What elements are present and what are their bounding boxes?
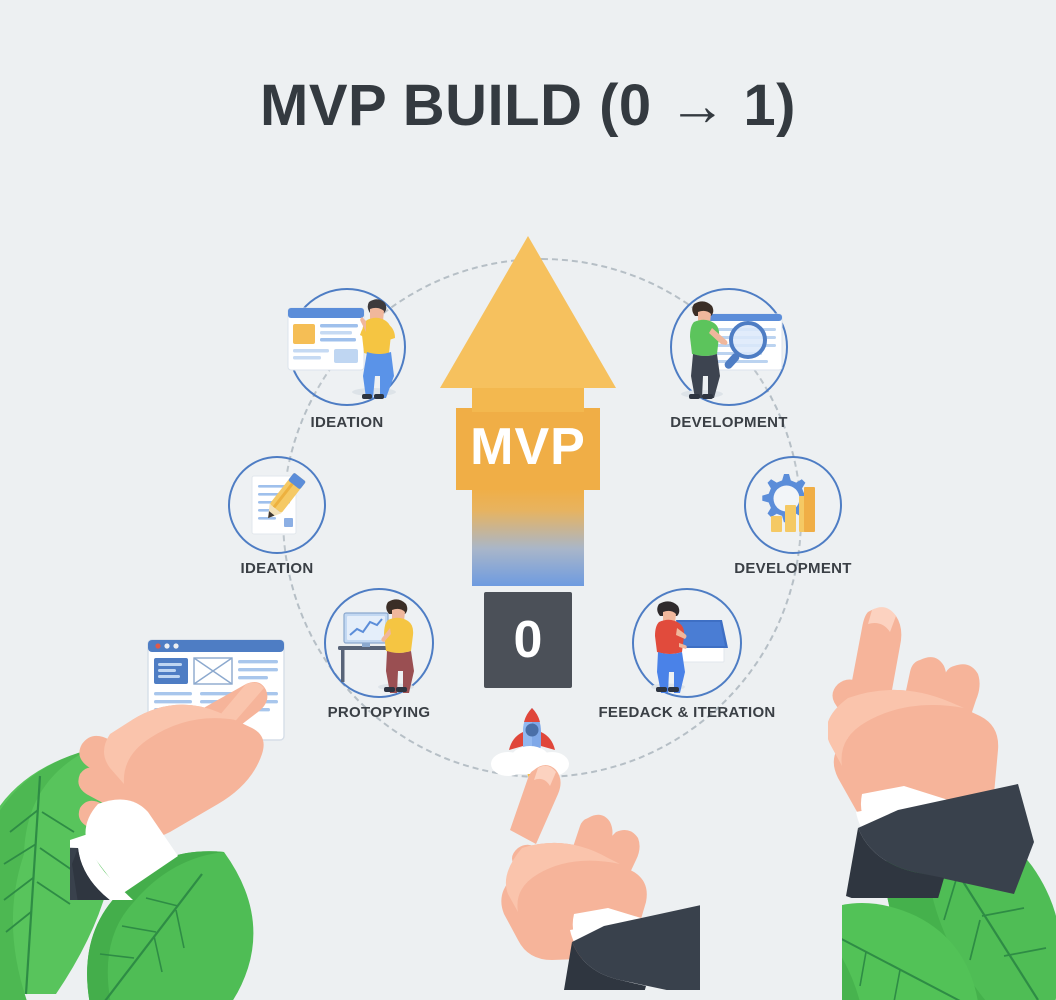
person-wireframe-board-icon [274, 284, 414, 414]
node-label: DEVELOPMENT [692, 560, 894, 577]
node-ideation-document[interactable]: IDEATION [228, 456, 326, 554]
node-label: IDEATION [184, 560, 370, 577]
person-holding-screen-icon [632, 588, 742, 698]
node-ideation-wireframe[interactable]: IDEATION [288, 288, 406, 406]
arrow-stem [472, 488, 584, 586]
node-feedback-iteration[interactable]: FEEDACK & ITERATION [632, 588, 742, 698]
node-development-gear[interactable]: DEVELOPMENT [744, 456, 842, 554]
node-prototyping-desk[interactable]: PROTOPYING [324, 588, 434, 698]
arrow-head [440, 236, 616, 388]
mvp-label: MVP [456, 405, 600, 489]
pointing-up-hand-icon [828, 598, 1056, 898]
pointing-hand-icon [500, 760, 700, 990]
node-development-research[interactable]: DEVELOPMENT [670, 288, 788, 406]
zero-label: 0 [484, 592, 572, 688]
node-label: PROTOPYING [292, 704, 466, 721]
node-label: FEEDACK & ITERATION [590, 704, 784, 721]
gear-bar-chart-icon [744, 456, 842, 554]
person-desk-monitor-icon [324, 588, 434, 698]
pointing-hand-icon [70, 620, 300, 900]
document-pencil-icon [228, 456, 326, 554]
infographic-canvas: MVP BUILD (0 → 1) MVP 0 [0, 0, 1056, 992]
person-magnifier-screen-icon [662, 284, 802, 414]
page-title: MVP BUILD (0 → 1) [0, 72, 1056, 139]
node-label: IDEATION [258, 414, 436, 431]
node-label: DEVELOPMENT [628, 414, 830, 431]
